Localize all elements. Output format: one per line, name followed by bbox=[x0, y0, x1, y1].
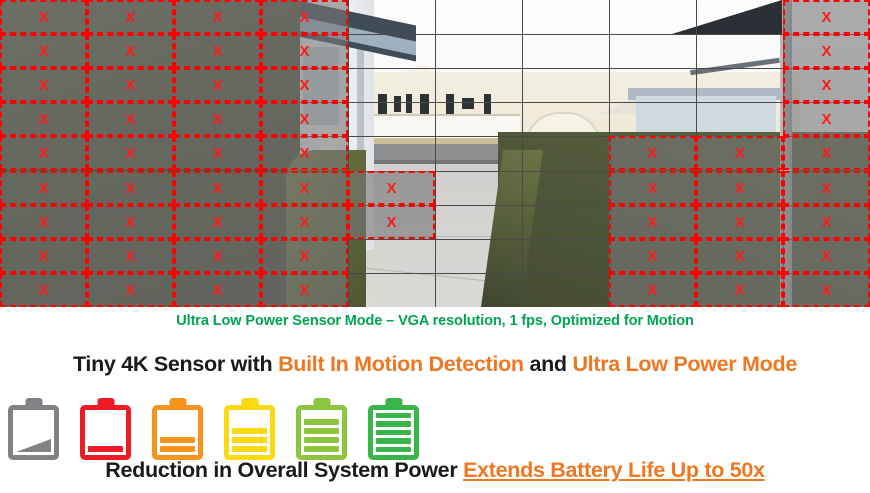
detection-zone-cell[interactable]: X bbox=[261, 102, 348, 136]
detection-zone-cell[interactable]: X bbox=[0, 273, 87, 307]
detection-zone-cell[interactable]: X bbox=[783, 136, 870, 170]
detection-zone-cell[interactable]: X bbox=[174, 102, 261, 136]
detection-zone-cell[interactable]: X bbox=[348, 171, 435, 205]
battery-body bbox=[224, 405, 275, 460]
battery-medium-icon bbox=[224, 398, 275, 460]
battery-level-bar bbox=[376, 438, 411, 443]
motion-detection-preview[interactable]: XXXXXXXXXXXXXXXXXXXXXXXXXXXXXXXXXXXXXXXX… bbox=[0, 0, 870, 307]
detection-zone-cell[interactable]: X bbox=[696, 273, 783, 307]
detection-zone-cell[interactable]: X bbox=[696, 136, 783, 170]
detection-zone-cell[interactable]: X bbox=[0, 171, 87, 205]
detection-zone-cell[interactable]: X bbox=[609, 239, 696, 273]
battery-level-bar bbox=[160, 446, 195, 452]
battery-low-icon bbox=[152, 398, 203, 460]
detection-zone-cell[interactable]: X bbox=[0, 68, 87, 102]
detection-zone-cell[interactable]: X bbox=[609, 205, 696, 239]
detection-zone-cell[interactable]: X bbox=[87, 273, 174, 307]
footer-part-1: Reduction in Overall System Power bbox=[105, 458, 463, 482]
detection-zone-cell[interactable]: X bbox=[174, 136, 261, 170]
battery-level-bar bbox=[304, 419, 339, 425]
battery-level-bar bbox=[304, 437, 339, 443]
detection-zone-cell[interactable]: X bbox=[174, 0, 261, 34]
detection-zone-cell[interactable]: X bbox=[609, 171, 696, 205]
battery-empty-icon bbox=[8, 398, 59, 460]
battery-full-icon bbox=[368, 398, 419, 460]
detection-zone-cell[interactable]: X bbox=[87, 205, 174, 239]
detection-zone-cell[interactable]: X bbox=[261, 68, 348, 102]
detection-zone-cell[interactable]: X bbox=[261, 136, 348, 170]
detection-zone-cell[interactable]: X bbox=[783, 102, 870, 136]
battery-level-bar bbox=[232, 446, 267, 452]
battery-level-bar bbox=[376, 447, 411, 452]
detection-zone-cell[interactable]: X bbox=[261, 0, 348, 34]
battery-level-bar bbox=[304, 446, 339, 452]
detection-zone-cell[interactable]: X bbox=[174, 34, 261, 68]
detection-zone-cell[interactable]: X bbox=[696, 205, 783, 239]
detection-zone-cell[interactable]: X bbox=[0, 34, 87, 68]
headline-part-1: Tiny 4K Sensor with bbox=[73, 352, 278, 376]
detection-zone-cell[interactable]: X bbox=[87, 0, 174, 34]
headline-part-2: and bbox=[524, 352, 573, 376]
detection-zone-cell[interactable]: X bbox=[783, 0, 870, 34]
detection-zone-cell[interactable]: X bbox=[87, 171, 174, 205]
detection-zone-cell[interactable]: X bbox=[261, 205, 348, 239]
detection-zone-cell[interactable]: X bbox=[783, 171, 870, 205]
detection-zone-cell[interactable]: X bbox=[609, 273, 696, 307]
battery-level-bar bbox=[376, 413, 411, 418]
detection-zone-cell[interactable]: X bbox=[261, 171, 348, 205]
footer-highlight-battery-life: Extends Battery Life Up to 50x bbox=[463, 458, 765, 482]
detection-zone-cell[interactable]: X bbox=[174, 171, 261, 205]
detection-zone-cell[interactable]: X bbox=[261, 273, 348, 307]
battery-level-bar bbox=[232, 437, 267, 443]
detection-zone-cell[interactable]: X bbox=[261, 34, 348, 68]
battery-high-icon bbox=[296, 398, 347, 460]
detection-zone-cell[interactable]: X bbox=[609, 136, 696, 170]
detection-zone-cell[interactable]: X bbox=[783, 239, 870, 273]
detection-zone-cell[interactable]: X bbox=[0, 102, 87, 136]
detection-zone-cell[interactable]: X bbox=[783, 273, 870, 307]
detection-zone-layer[interactable]: XXXXXXXXXXXXXXXXXXXXXXXXXXXXXXXXXXXXXXXX… bbox=[0, 0, 870, 307]
battery-critical-icon bbox=[80, 398, 131, 460]
detection-zone-cell[interactable]: X bbox=[696, 171, 783, 205]
headline-highlight-motion-detection: Built In Motion Detection bbox=[278, 352, 524, 376]
battery-body bbox=[368, 405, 419, 460]
battery-level-bar bbox=[160, 437, 195, 443]
detection-zone-cell[interactable]: X bbox=[87, 136, 174, 170]
detection-zone-cell[interactable]: X bbox=[87, 68, 174, 102]
battery-level-bar bbox=[232, 428, 267, 434]
battery-level-bar bbox=[304, 428, 339, 434]
battery-level-bar bbox=[376, 430, 411, 435]
headline: Tiny 4K Sensor with Built In Motion Dete… bbox=[0, 352, 870, 377]
detection-zone-cell[interactable]: X bbox=[0, 136, 87, 170]
battery-body bbox=[152, 405, 203, 460]
detection-zone-cell[interactable]: X bbox=[87, 239, 174, 273]
detection-zone-cell[interactable]: X bbox=[0, 239, 87, 273]
battery-empty-wedge bbox=[16, 439, 51, 452]
battery-body bbox=[80, 405, 131, 460]
detection-zone-cell[interactable]: X bbox=[174, 239, 261, 273]
sensor-mode-caption: Ultra Low Power Sensor Mode – VGA resolu… bbox=[0, 313, 870, 329]
battery-level-bar bbox=[88, 446, 123, 452]
detection-zone-cell[interactable]: X bbox=[783, 34, 870, 68]
detection-zone-cell[interactable]: X bbox=[696, 239, 783, 273]
detection-zone-cell[interactable]: X bbox=[174, 273, 261, 307]
detection-zone-cell[interactable]: X bbox=[0, 0, 87, 34]
battery-level-row bbox=[8, 392, 438, 460]
detection-zone-cell[interactable]: X bbox=[348, 205, 435, 239]
detection-zone-cell[interactable]: X bbox=[261, 239, 348, 273]
detection-zone-cell[interactable]: X bbox=[783, 205, 870, 239]
battery-body bbox=[8, 405, 59, 460]
detection-zone-cell[interactable]: X bbox=[174, 68, 261, 102]
detection-zone-cell[interactable]: X bbox=[783, 68, 870, 102]
battery-body bbox=[296, 405, 347, 460]
footer-tagline: Reduction in Overall System Power Extend… bbox=[0, 458, 870, 483]
detection-zone-cell[interactable]: X bbox=[87, 102, 174, 136]
detection-zone-cell[interactable]: X bbox=[87, 34, 174, 68]
battery-level-bar bbox=[376, 421, 411, 426]
headline-highlight-low-power: Ultra Low Power Mode bbox=[572, 352, 797, 376]
detection-zone-cell[interactable]: X bbox=[174, 205, 261, 239]
detection-zone-cell[interactable]: X bbox=[0, 205, 87, 239]
